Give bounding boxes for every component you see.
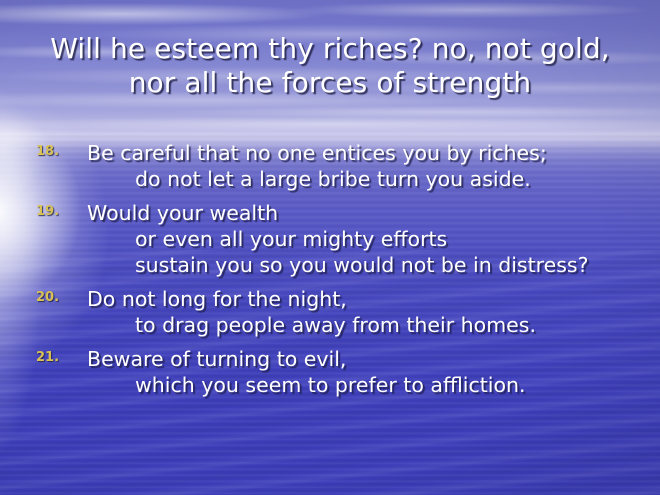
slide-content: Will he esteem thy riches? no, not gold,… — [0, 0, 660, 495]
verse-text: Do not long for the night,to drag people… — [0, 286, 660, 338]
verse-line: sustain you so you would not be in distr… — [0, 252, 660, 278]
verse-line: Be careful that no one entices you by ri… — [0, 140, 660, 166]
verse-item: 18.Be careful that no one entices you by… — [0, 140, 660, 192]
verse-line: which you seem to prefer to affliction. — [0, 372, 660, 398]
verse-number: 20. — [36, 290, 82, 306]
slide-canvas: Will he esteem thy riches? no, not gold,… — [0, 0, 660, 495]
verse-number: 21. — [36, 350, 82, 366]
verse-number: 19. — [36, 204, 82, 220]
verse-number: 18. — [36, 144, 82, 160]
verse-text: Be careful that no one entices you by ri… — [0, 140, 660, 192]
verse-text: Would your wealthor even all your mighty… — [0, 200, 660, 278]
verse-line: Beware of turning to evil, — [0, 346, 660, 372]
verse-item: 19.Would your wealthor even all your mig… — [0, 200, 660, 278]
verse-line: or even all your mighty efforts — [0, 226, 660, 252]
verse-line: Would your wealth — [0, 200, 660, 226]
verse-text: Beware of turning to evil,which you seem… — [0, 346, 660, 398]
verse-item: 21.Beware of turning to evil,which you s… — [0, 346, 660, 398]
verse-item: 20.Do not long for the night,to drag peo… — [0, 286, 660, 338]
verse-line: Do not long for the night, — [0, 286, 660, 312]
slide-title: Will he esteem thy riches? no, not gold,… — [0, 32, 660, 100]
verse-line: do not let a large bribe turn you aside. — [0, 166, 660, 192]
verse-line: to drag people away from their homes. — [0, 312, 660, 338]
verse-list: 18.Be careful that no one entices you by… — [0, 140, 660, 406]
